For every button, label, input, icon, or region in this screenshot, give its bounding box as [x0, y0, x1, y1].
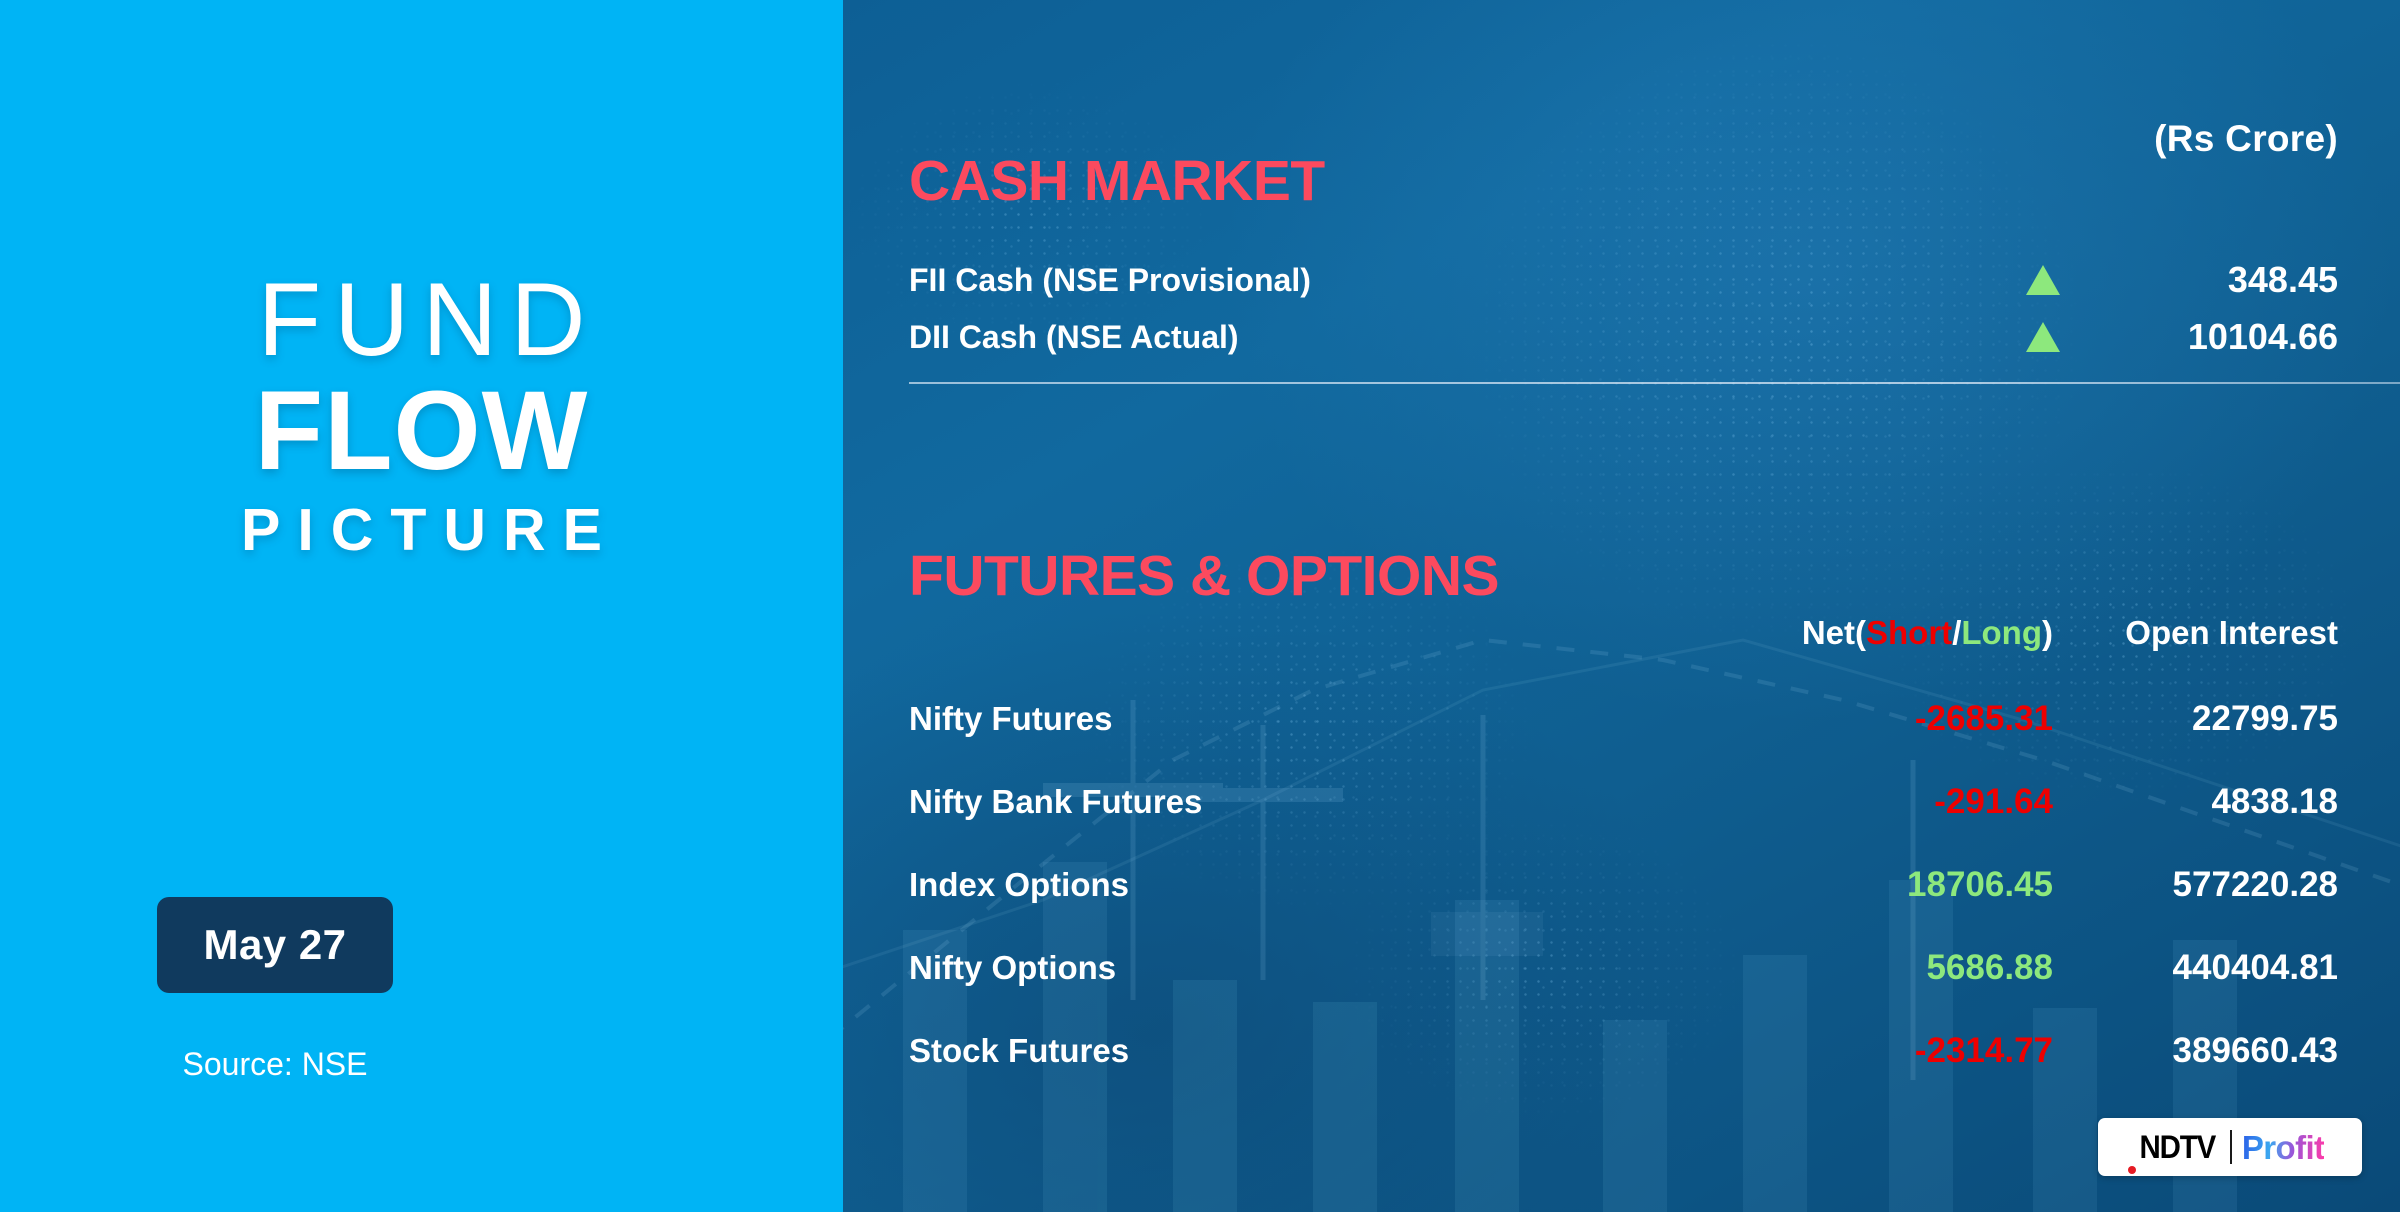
- fno-table-row: Nifty Bank Futures -291.64 4838.18: [909, 779, 2338, 825]
- source-note: Source: NSE: [157, 1046, 393, 1083]
- profit-wordmark: Profit: [2242, 1131, 2325, 1164]
- cash-row-value: 348.45: [2128, 259, 2338, 301]
- net-prefix: Net(: [1802, 614, 1866, 651]
- fno-row-label: Nifty Futures: [909, 700, 1753, 738]
- fno-row-net: -2685.31: [1753, 699, 2053, 739]
- fno-row-open-interest: 22799.75: [2053, 699, 2338, 739]
- ndtv-wordmark: NDTV: [2139, 1131, 2218, 1163]
- cash-row-label: FII Cash (NSE Provisional): [909, 262, 2020, 299]
- net-long-label: Long: [1961, 614, 2042, 651]
- fno-row-net: -2314.77: [1753, 1031, 2053, 1071]
- fno-table-row: Index Options 18706.45 577220.28: [909, 862, 2338, 908]
- fno-table-row: Stock Futures -2314.77 389660.43: [909, 1028, 2338, 1074]
- cash-market-title: CASH MARKET: [909, 148, 1325, 214]
- left-brand-panel: FUND FLOW PICTURE May 27 Source: NSE: [0, 0, 843, 1212]
- brand-line-fund: FUND: [0, 270, 843, 372]
- arrow-up-icon: [2020, 265, 2066, 295]
- fno-row-open-interest: 4838.18: [2053, 782, 2338, 822]
- data-content: (Rs Crore) CASH MARKET FII Cash (NSE Pro…: [843, 0, 2400, 1212]
- ndtv-profit-logo: NDTV Profit: [2098, 1118, 2362, 1176]
- fno-row-net: -291.64: [1753, 782, 2053, 822]
- cash-row-value: 10104.66: [2128, 316, 2338, 358]
- fno-table-row: Nifty Options 5686.88 440404.81: [909, 945, 2338, 991]
- fno-row-net: 5686.88: [1753, 948, 2053, 988]
- date-badge: May 27: [157, 897, 393, 993]
- fno-row-open-interest: 440404.81: [2053, 948, 2338, 988]
- fno-row-label: Stock Futures: [909, 1032, 1753, 1070]
- futures-options-header-row: Net(Short/Long) Open Interest: [909, 612, 2338, 654]
- column-header-net: Net(Short/Long): [1753, 614, 2053, 652]
- date-label: May 27: [203, 921, 346, 969]
- futures-options-title: FUTURES & OPTIONS: [909, 543, 1499, 609]
- brand-logo: FUND FLOW PICTURE: [0, 270, 843, 563]
- right-data-panel: (Rs Crore) CASH MARKET FII Cash (NSE Pro…: [843, 0, 2400, 1212]
- ndtv-red-dot-icon: [2128, 1166, 2136, 1174]
- fno-row-label: Index Options: [909, 866, 1753, 904]
- fno-table-row: Nifty Futures -2685.31 22799.75: [909, 696, 2338, 742]
- net-separator: /: [1952, 614, 1961, 651]
- fno-row-label: Nifty Bank Futures: [909, 783, 1753, 821]
- fund-flow-graphic: FUND FLOW PICTURE May 27 Source: NSE: [0, 0, 2400, 1212]
- cash-row: FII Cash (NSE Provisional) 348.45: [909, 258, 2338, 302]
- cash-row-label: DII Cash (NSE Actual): [909, 319, 2020, 356]
- arrow-up-icon: [2020, 322, 2066, 352]
- source-label: Source: NSE: [183, 1046, 368, 1082]
- net-short-label: Short: [1866, 614, 1952, 651]
- fno-row-open-interest: 577220.28: [2053, 865, 2338, 905]
- fno-row-open-interest: 389660.43: [2053, 1031, 2338, 1071]
- column-header-open-interest: Open Interest: [2053, 614, 2338, 652]
- fno-row-label: Nifty Options: [909, 949, 1753, 987]
- logo-divider: [2230, 1130, 2232, 1164]
- units-note: (Rs Crore): [2154, 118, 2338, 160]
- brand-line-flow: FLOW: [0, 374, 843, 488]
- fno-row-net: 18706.45: [1753, 865, 2053, 905]
- brand-line-picture: PICTURE: [0, 498, 843, 563]
- section-divider: [909, 382, 2400, 384]
- net-suffix: ): [2042, 614, 2053, 651]
- cash-row: DII Cash (NSE Actual) 10104.66: [909, 315, 2338, 359]
